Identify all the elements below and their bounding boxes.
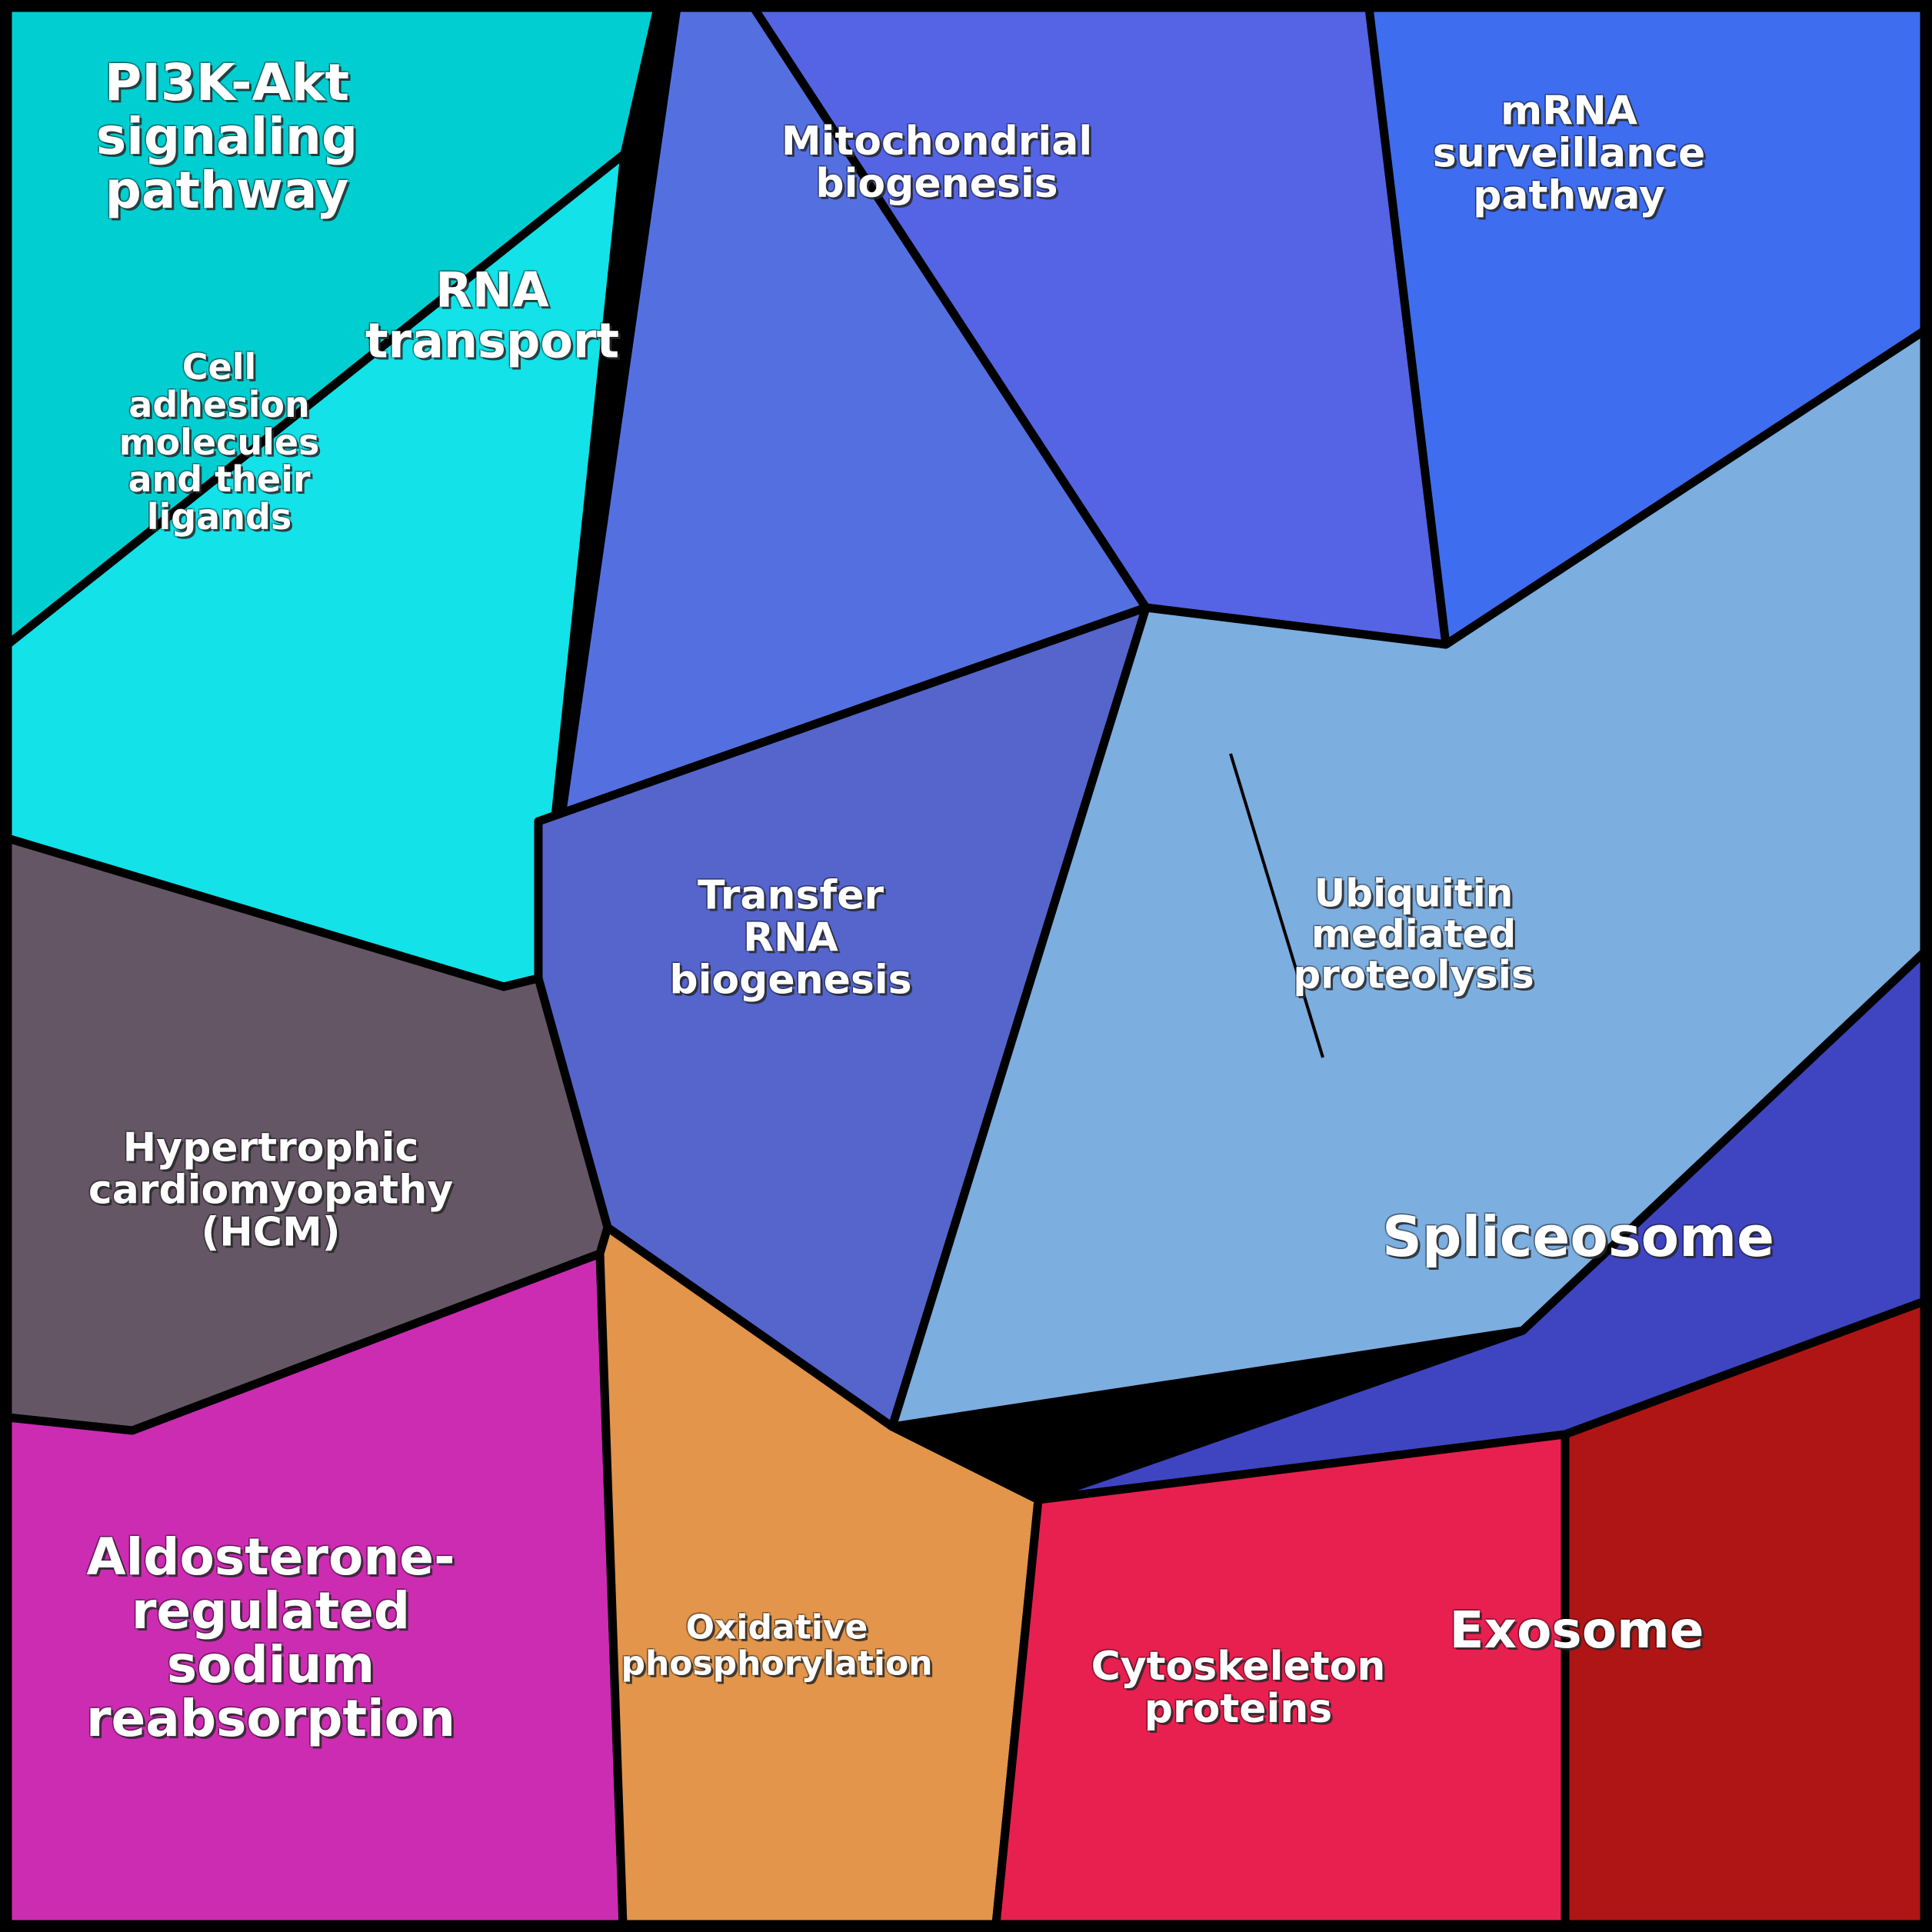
voronoi-treemap-figure: PI3K-Akt signaling pathwayCell adhesion …	[0, 0, 1932, 1932]
treemap-cell-cytoskeleton-proteins[interactable]	[996, 1434, 1565, 1924]
voronoi-canvas	[0, 0, 1932, 1932]
cells-layer	[8, 8, 1924, 1924]
